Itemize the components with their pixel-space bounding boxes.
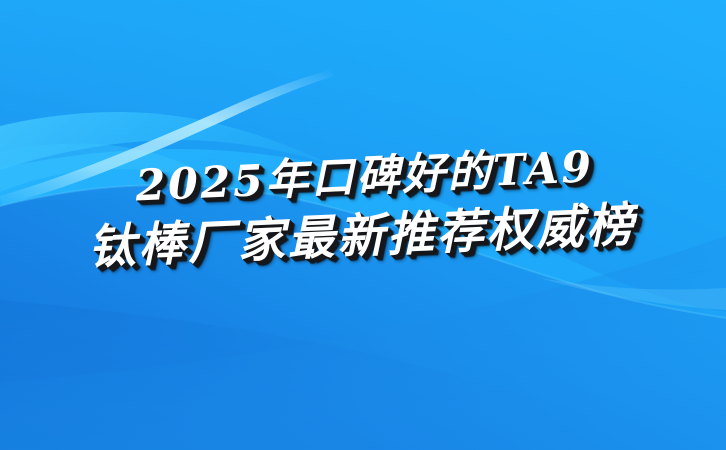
bottom-left-shade [0, 300, 726, 450]
wave-right-curve [540, 278, 726, 310]
headline-block: 2025年口碑好的TA9 钛棒厂家最新推荐权威榜 [0, 135, 726, 285]
promo-banner: 2025年口碑好的TA9 钛棒厂家最新推荐权威榜 [0, 0, 726, 450]
